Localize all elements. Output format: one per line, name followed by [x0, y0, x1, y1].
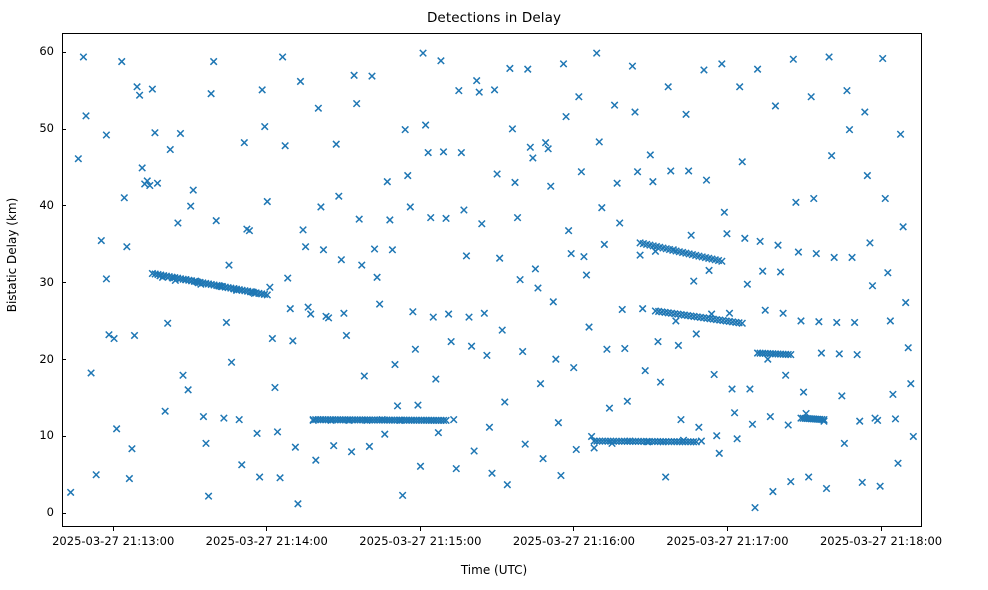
- scatter-point: [75, 155, 81, 161]
- scatter-point: [152, 129, 158, 135]
- y-axis-label: Bistatic Delay (km): [5, 105, 19, 405]
- scatter-point: [624, 398, 630, 404]
- scatter-point: [274, 429, 280, 435]
- scatter-point: [744, 281, 750, 287]
- scatter-point: [353, 100, 359, 106]
- scatter-point: [466, 314, 472, 320]
- scatter-point: [665, 84, 671, 90]
- scatter-point: [468, 343, 474, 349]
- scatter-point: [376, 301, 382, 307]
- scatter-point: [149, 86, 155, 92]
- scatter-point: [484, 352, 490, 358]
- scatter-point: [910, 433, 916, 439]
- scatter-point: [616, 220, 622, 226]
- scatter-point: [841, 440, 847, 446]
- scatter-point: [361, 373, 367, 379]
- scatter-point: [542, 139, 548, 145]
- scatter-point: [402, 126, 408, 132]
- x-tick-label: 2025-03-27 21:14:00: [206, 534, 328, 548]
- scatter-point: [836, 351, 842, 357]
- scatter-point: [596, 139, 602, 145]
- scatter-point: [203, 440, 209, 446]
- scatter-point: [685, 168, 691, 174]
- scatter-point: [905, 344, 911, 350]
- x-tick-label: 2025-03-27 21:17:00: [666, 534, 788, 548]
- scatter-point: [392, 361, 398, 367]
- scatter-point: [874, 417, 880, 423]
- scatter-point: [417, 463, 423, 469]
- scatter-point: [313, 457, 319, 463]
- scatter-point: [856, 418, 862, 424]
- scatter-point: [129, 445, 135, 451]
- scatter-point: [473, 77, 479, 83]
- scatter-point: [869, 282, 875, 288]
- scatter-point: [134, 84, 140, 90]
- scatter-point: [221, 415, 227, 421]
- scatter-point: [828, 152, 834, 158]
- scatter-point: [749, 421, 755, 427]
- scatter-point: [693, 331, 699, 337]
- scatter-point: [721, 209, 727, 215]
- scatter-point: [724, 230, 730, 236]
- scatter-point: [657, 379, 663, 385]
- scatter-point: [591, 445, 597, 451]
- scatter-point: [719, 61, 725, 67]
- scatter-point: [637, 252, 643, 258]
- scatter-points-layer: [63, 34, 921, 526]
- scatter-point: [124, 243, 130, 249]
- x-tick-line: [266, 527, 267, 531]
- scatter-point: [210, 58, 216, 64]
- scatter-point: [507, 65, 513, 71]
- scatter-point: [359, 262, 365, 268]
- scatter-point: [800, 389, 806, 395]
- scatter-point: [650, 178, 656, 184]
- scatter-point: [555, 419, 561, 425]
- scatter-point: [890, 391, 896, 397]
- y-tick-label: 0: [47, 505, 54, 519]
- scatter-point: [67, 489, 73, 495]
- scatter-point: [573, 446, 579, 452]
- scatter-point: [300, 227, 306, 233]
- scatter-point: [106, 331, 112, 337]
- scatter-point: [639, 305, 645, 311]
- scatter-point: [882, 195, 888, 201]
- scatter-point: [701, 67, 707, 73]
- scatter-point: [486, 424, 492, 430]
- scatter-point: [246, 227, 252, 233]
- scatter-point: [297, 78, 303, 84]
- scatter-point: [512, 179, 518, 185]
- scatter-point: [655, 338, 661, 344]
- scatter-point: [713, 432, 719, 438]
- scatter-point: [522, 441, 528, 447]
- scatter-point: [302, 243, 308, 249]
- scatter-point: [762, 307, 768, 313]
- scatter-point: [716, 450, 722, 456]
- scatter-point: [126, 475, 132, 481]
- scatter-point: [415, 402, 421, 408]
- scatter-point: [550, 299, 556, 305]
- scatter-point: [277, 475, 283, 481]
- scatter-point: [560, 61, 566, 67]
- scatter-point: [790, 56, 796, 62]
- scatter-point: [180, 372, 186, 378]
- scatter-point: [632, 109, 638, 115]
- scatter-point: [384, 178, 390, 184]
- scatter-point: [476, 89, 482, 95]
- scatter-point: [782, 372, 788, 378]
- scatter-point: [422, 122, 428, 128]
- scatter-point: [833, 319, 839, 325]
- scatter-point: [759, 268, 765, 274]
- scatter-point: [726, 310, 732, 316]
- scatter-point: [374, 274, 380, 280]
- scatter-point: [747, 386, 753, 392]
- scatter-point: [239, 462, 245, 468]
- scatter-point: [634, 168, 640, 174]
- scatter-point: [136, 92, 142, 98]
- scatter-point: [537, 380, 543, 386]
- scatter-point: [103, 132, 109, 138]
- scatter-point: [261, 123, 267, 129]
- scatter-point: [236, 416, 242, 422]
- x-axis-label: Time (UTC): [0, 563, 988, 577]
- scatter-point: [399, 492, 405, 498]
- scatter-point: [846, 126, 852, 132]
- scatter-point: [295, 501, 301, 507]
- scatter-point: [292, 444, 298, 450]
- scatter-point: [343, 332, 349, 338]
- scatter-point: [611, 102, 617, 108]
- scatter-point: [463, 253, 469, 259]
- scatter-point: [530, 155, 536, 161]
- scatter-point: [453, 465, 459, 471]
- scatter-point: [604, 346, 610, 352]
- scatter-point: [325, 315, 331, 321]
- scatter-point: [795, 249, 801, 255]
- scatter-point: [205, 493, 211, 499]
- x-tick-label: 2025-03-27 21:18:00: [820, 534, 942, 548]
- scatter-point: [330, 442, 336, 448]
- scatter-point: [867, 240, 873, 246]
- scatter-point: [223, 319, 229, 325]
- scatter-point: [844, 87, 850, 93]
- scatter-point: [282, 142, 288, 148]
- scatter-point: [593, 50, 599, 56]
- scatter-point: [496, 255, 502, 261]
- scatter-point: [854, 351, 860, 357]
- scatter-point: [154, 180, 160, 186]
- plot-area: [62, 33, 922, 527]
- scatter-point: [780, 310, 786, 316]
- scatter-point: [502, 399, 508, 405]
- scatter-point: [284, 275, 290, 281]
- scatter-point: [563, 113, 569, 119]
- scatter-point: [254, 430, 260, 436]
- scatter-point: [98, 237, 104, 243]
- scatter-point: [336, 193, 342, 199]
- scatter-point: [88, 370, 94, 376]
- scatter-point: [290, 338, 296, 344]
- scatter-point: [839, 393, 845, 399]
- scatter-point: [808, 94, 814, 100]
- scatter-point: [433, 376, 439, 382]
- scatter-point: [456, 87, 462, 93]
- scatter-point: [565, 227, 571, 233]
- scatter-point: [583, 272, 589, 278]
- scatter-point: [412, 346, 418, 352]
- scatter-point: [805, 474, 811, 480]
- scatter-point: [177, 130, 183, 136]
- scatter-point: [895, 460, 901, 466]
- y-tick-label: 20: [39, 352, 54, 366]
- scatter-point: [527, 144, 533, 150]
- scatter-point: [318, 204, 324, 210]
- scatter-point: [517, 276, 523, 282]
- scatter-point: [811, 195, 817, 201]
- y-tick-label: 30: [39, 275, 54, 289]
- scatter-point: [461, 207, 467, 213]
- scatter-point: [770, 488, 776, 494]
- scatter-point: [690, 278, 696, 284]
- y-tick-label: 50: [39, 121, 54, 135]
- scatter-point: [420, 50, 426, 56]
- scatter-point: [479, 221, 485, 227]
- scatter-point: [387, 217, 393, 223]
- scatter-point: [629, 63, 635, 69]
- x-tick-line: [727, 527, 728, 531]
- y-tick-label: 40: [39, 198, 54, 212]
- scatter-point: [80, 54, 86, 60]
- scatter-point: [775, 242, 781, 248]
- scatter-point: [499, 327, 505, 333]
- scatter-point: [902, 299, 908, 305]
- x-tick-line: [113, 527, 114, 531]
- scatter-point: [450, 416, 456, 422]
- scatter-point: [558, 472, 564, 478]
- scatter-point: [734, 436, 740, 442]
- scatter-point: [545, 146, 551, 152]
- scatter-point: [752, 504, 758, 510]
- scatter-point: [200, 413, 206, 419]
- scatter-point: [489, 470, 495, 476]
- scatter-point: [267, 284, 273, 290]
- x-tick-label: 2025-03-27 21:13:00: [52, 534, 174, 548]
- scatter-point: [535, 285, 541, 291]
- scatter-point: [164, 320, 170, 326]
- scatter-point: [287, 305, 293, 311]
- scatter-point: [532, 266, 538, 272]
- scatter-point: [208, 90, 214, 96]
- scatter-point: [742, 235, 748, 241]
- scatter-point: [578, 168, 584, 174]
- scatter-point: [514, 214, 520, 220]
- scatter-point: [892, 416, 898, 422]
- scatter-point: [862, 109, 868, 115]
- scatter-point: [703, 177, 709, 183]
- scatter-point: [599, 204, 605, 210]
- scatter-point: [900, 224, 906, 230]
- scatter-point: [864, 172, 870, 178]
- scatter-point: [897, 131, 903, 137]
- scatter-point: [849, 254, 855, 260]
- scatter-point: [410, 309, 416, 315]
- scatter-point: [494, 171, 500, 177]
- scatter-point: [407, 204, 413, 210]
- scatter-point: [131, 332, 137, 338]
- scatter-point: [430, 314, 436, 320]
- scatter-point: [706, 267, 712, 273]
- scatter-point: [525, 66, 531, 72]
- scatter-point: [440, 149, 446, 155]
- scatter-point: [371, 246, 377, 252]
- scatter-point: [711, 371, 717, 377]
- scatter-point: [678, 416, 684, 422]
- scatter-point: [269, 335, 275, 341]
- scatter-point: [259, 87, 265, 93]
- scatter-point: [190, 187, 196, 193]
- scatter-point: [404, 172, 410, 178]
- scatter-point: [606, 405, 612, 411]
- scatter-point: [788, 478, 794, 484]
- scatter-point: [540, 455, 546, 461]
- x-tick-line: [573, 527, 574, 531]
- scatter-point: [553, 356, 559, 362]
- scatter-point: [754, 66, 760, 72]
- scatter-point: [798, 318, 804, 324]
- scatter-point: [121, 195, 127, 201]
- scatter-point: [458, 149, 464, 155]
- scatter-point: [581, 253, 587, 259]
- scatter-point: [519, 348, 525, 354]
- scatter-point: [831, 254, 837, 260]
- scatter-point: [772, 103, 778, 109]
- scatter-point: [93, 472, 99, 478]
- matplotlib-figure: Detections in Delay 0102030405060 2025-0…: [0, 0, 988, 590]
- scatter-point: [481, 310, 487, 316]
- scatter-point: [366, 443, 372, 449]
- scatter-point: [622, 345, 628, 351]
- scatter-point: [348, 449, 354, 455]
- scatter-series-detections: [67, 50, 916, 511]
- scatter-point: [315, 105, 321, 111]
- scatter-point: [509, 126, 515, 132]
- scatter-point: [226, 262, 232, 268]
- scatter-point: [504, 481, 510, 487]
- scatter-point: [683, 111, 689, 117]
- scatter-point: [491, 87, 497, 93]
- scatter-point: [662, 474, 668, 480]
- scatter-point: [777, 269, 783, 275]
- x-tick-line: [881, 527, 882, 531]
- scatter-point: [688, 232, 694, 238]
- scatter-point: [139, 165, 145, 171]
- scatter-point: [118, 58, 124, 64]
- scatter-point: [619, 306, 625, 312]
- scatter-point: [320, 247, 326, 253]
- scatter-point: [757, 238, 763, 244]
- scatter-point: [279, 54, 285, 60]
- scatter-point: [341, 310, 347, 316]
- scatter-point: [570, 364, 576, 370]
- scatter-point: [813, 250, 819, 256]
- x-tick-line: [420, 527, 421, 531]
- page-title: Detections in Delay: [0, 10, 988, 26]
- scatter-point: [228, 359, 234, 365]
- scatter-point: [826, 54, 832, 60]
- scatter-point: [338, 256, 344, 262]
- scatter-point: [256, 474, 262, 480]
- scatter-point: [187, 203, 193, 209]
- scatter-point: [739, 159, 745, 165]
- scatter-point: [614, 180, 620, 186]
- scatter-point: [382, 431, 388, 437]
- scatter-point: [647, 152, 653, 158]
- scatter-point: [394, 403, 400, 409]
- scatter-point: [111, 335, 117, 341]
- scatter-point: [887, 318, 893, 324]
- scatter-point: [673, 318, 679, 324]
- scatter-point: [586, 324, 592, 330]
- scatter-point: [736, 84, 742, 90]
- scatter-point: [333, 141, 339, 147]
- scatter-point: [351, 72, 357, 78]
- scatter-point: [241, 139, 247, 145]
- scatter-point: [471, 448, 477, 454]
- scatter-point: [675, 342, 681, 348]
- scatter-point: [445, 311, 451, 317]
- scatter-point: [427, 214, 433, 220]
- scatter-point: [305, 304, 311, 310]
- scatter-point: [785, 422, 791, 428]
- scatter-point: [823, 485, 829, 491]
- scatter-point: [167, 146, 173, 152]
- scatter-point: [103, 276, 109, 282]
- scatter-point: [731, 410, 737, 416]
- scatter-point: [448, 338, 454, 344]
- x-tick-label: 2025-03-27 21:15:00: [359, 534, 481, 548]
- scatter-point: [767, 413, 773, 419]
- x-tick-label: 2025-03-27 21:16:00: [513, 534, 635, 548]
- y-tick-label: 10: [39, 428, 54, 442]
- scatter-point: [851, 319, 857, 325]
- scatter-point: [264, 198, 270, 204]
- scatter-point: [908, 380, 914, 386]
- scatter-point: [568, 250, 574, 256]
- scatter-point: [576, 94, 582, 100]
- scatter-point: [162, 408, 168, 414]
- scatter-point: [213, 217, 219, 223]
- y-tick-label: 60: [39, 44, 54, 58]
- scatter-point: [601, 241, 607, 247]
- scatter-point: [818, 350, 824, 356]
- scatter-point: [425, 149, 431, 155]
- scatter-point: [356, 216, 362, 222]
- scatter-point: [879, 55, 885, 61]
- scatter-point: [389, 247, 395, 253]
- scatter-point: [642, 367, 648, 373]
- scatter-point: [175, 220, 181, 226]
- scatter-point: [443, 215, 449, 221]
- scatter-point: [272, 384, 278, 390]
- scatter-point: [438, 58, 444, 64]
- scatter-point: [547, 183, 553, 189]
- scatter-point: [369, 73, 375, 79]
- scatter-point: [885, 269, 891, 275]
- scatter-point: [668, 168, 674, 174]
- scatter-point: [113, 426, 119, 432]
